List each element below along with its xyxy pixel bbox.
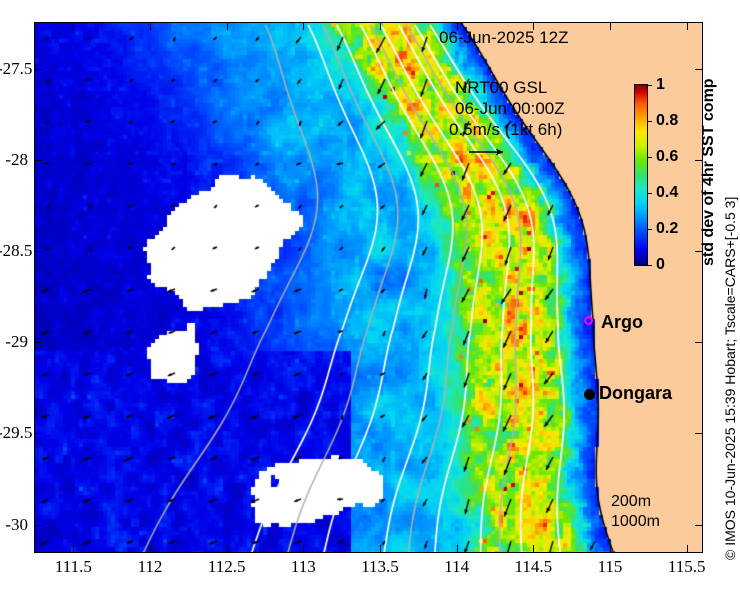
- x-axis-tick: [380, 545, 381, 552]
- depth-contour-200m-label: 200m: [611, 493, 651, 511]
- contours-and-current-vectors-overlay: [35, 23, 702, 552]
- y-axis-tick-label: -28: [0, 150, 28, 170]
- colorbar-tick-label: 0.2: [656, 220, 678, 238]
- x-axis-tick: [380, 23, 381, 30]
- x-axis-tick: [687, 545, 688, 552]
- x-axis-tick: [303, 23, 304, 30]
- colorbar-tick: [647, 229, 652, 230]
- y-axis-tick: [695, 160, 702, 161]
- map-plot-area: [34, 22, 703, 553]
- y-axis-tick-label: -28.5: [0, 241, 28, 261]
- x-axis-tick: [73, 23, 74, 30]
- x-axis-tick: [457, 545, 458, 552]
- y-axis-tick: [695, 342, 702, 343]
- x-axis-tick: [73, 545, 74, 552]
- y-axis-tick: [35, 525, 42, 526]
- vector-scale-label: 0.5m/s (1kt 6h): [449, 120, 562, 140]
- y-axis-tick: [35, 433, 42, 434]
- x-axis-tick: [610, 23, 611, 30]
- x-axis-tick-label: 113: [291, 557, 316, 577]
- y-axis-tick-label: -29.5: [0, 423, 28, 443]
- x-axis-tick-label: 112: [138, 557, 163, 577]
- depth-contour-1000m-label: 1000m: [611, 513, 660, 531]
- x-axis-tick: [150, 23, 151, 30]
- dongara-location-marker-icon: [584, 389, 595, 400]
- date-label: 06-Jun-2025 12Z: [439, 28, 568, 48]
- argo-legend-label: Argo: [601, 312, 643, 333]
- colorbar-tick-label: 0.8: [656, 112, 678, 130]
- x-axis-tick-label: 114: [444, 557, 469, 577]
- x-axis-tick-label: 112.5: [208, 557, 246, 577]
- x-axis-tick: [533, 545, 534, 552]
- x-axis-tick-label: 114.5: [515, 557, 553, 577]
- credit-text: © IMOS 10-Jun-2025 15:39 Hobart; Tscale=…: [722, 197, 738, 560]
- x-axis-tick: [227, 545, 228, 552]
- colorbar-tick-label: 0: [656, 256, 665, 274]
- argo-legend-marker-icon: [584, 316, 593, 325]
- x-axis-tick: [533, 23, 534, 30]
- vector-scale-arrow-icon: [467, 146, 511, 158]
- y-axis-tick: [35, 160, 42, 161]
- y-axis-tick: [695, 433, 702, 434]
- colorbar-tick: [647, 121, 652, 122]
- y-axis-tick: [35, 251, 42, 252]
- y-axis-tick: [695, 251, 702, 252]
- y-axis-tick: [695, 525, 702, 526]
- colorbar-tick: [647, 265, 652, 266]
- colorbar-tick-label: 0.6: [656, 148, 678, 166]
- x-axis-tick-label: 113.5: [361, 557, 399, 577]
- colorbar-title: std dev of 4hr SST comp: [700, 84, 718, 266]
- x-axis-tick: [457, 23, 458, 30]
- x-axis-tick: [150, 545, 151, 552]
- y-axis-tick: [35, 69, 42, 70]
- colorbar-gradient: [634, 84, 648, 266]
- model-source-label: NRT00 GSL: [455, 78, 547, 98]
- x-axis-tick-label: 115.5: [668, 557, 706, 577]
- y-axis-tick: [35, 342, 42, 343]
- x-axis-tick: [610, 545, 611, 552]
- x-axis-tick-label: 111.5: [55, 557, 92, 577]
- colorbar-tick: [647, 157, 652, 158]
- model-time-label: 06-Jun 00:00Z: [455, 99, 565, 119]
- x-axis-tick: [687, 23, 688, 30]
- x-axis-tick: [227, 23, 228, 30]
- y-axis-tick-label: -27.5: [0, 59, 28, 79]
- x-axis-tick: [303, 545, 304, 552]
- y-axis-tick-label: -30: [0, 515, 28, 535]
- colorbar-tick-label: 0.4: [656, 184, 678, 202]
- colorbar-tick: [647, 193, 652, 194]
- colorbar-tick-label: 1: [656, 76, 665, 94]
- dongara-location-label: Dongara: [599, 383, 672, 404]
- colorbar-tick: [647, 85, 652, 86]
- y-axis-tick-label: -29: [0, 332, 28, 352]
- figure-root: 06-Jun-2025 12Z NRT00 GSL 06-Jun 00:00Z …: [0, 0, 740, 592]
- x-axis-tick-label: 115: [598, 557, 623, 577]
- y-axis-tick: [695, 69, 702, 70]
